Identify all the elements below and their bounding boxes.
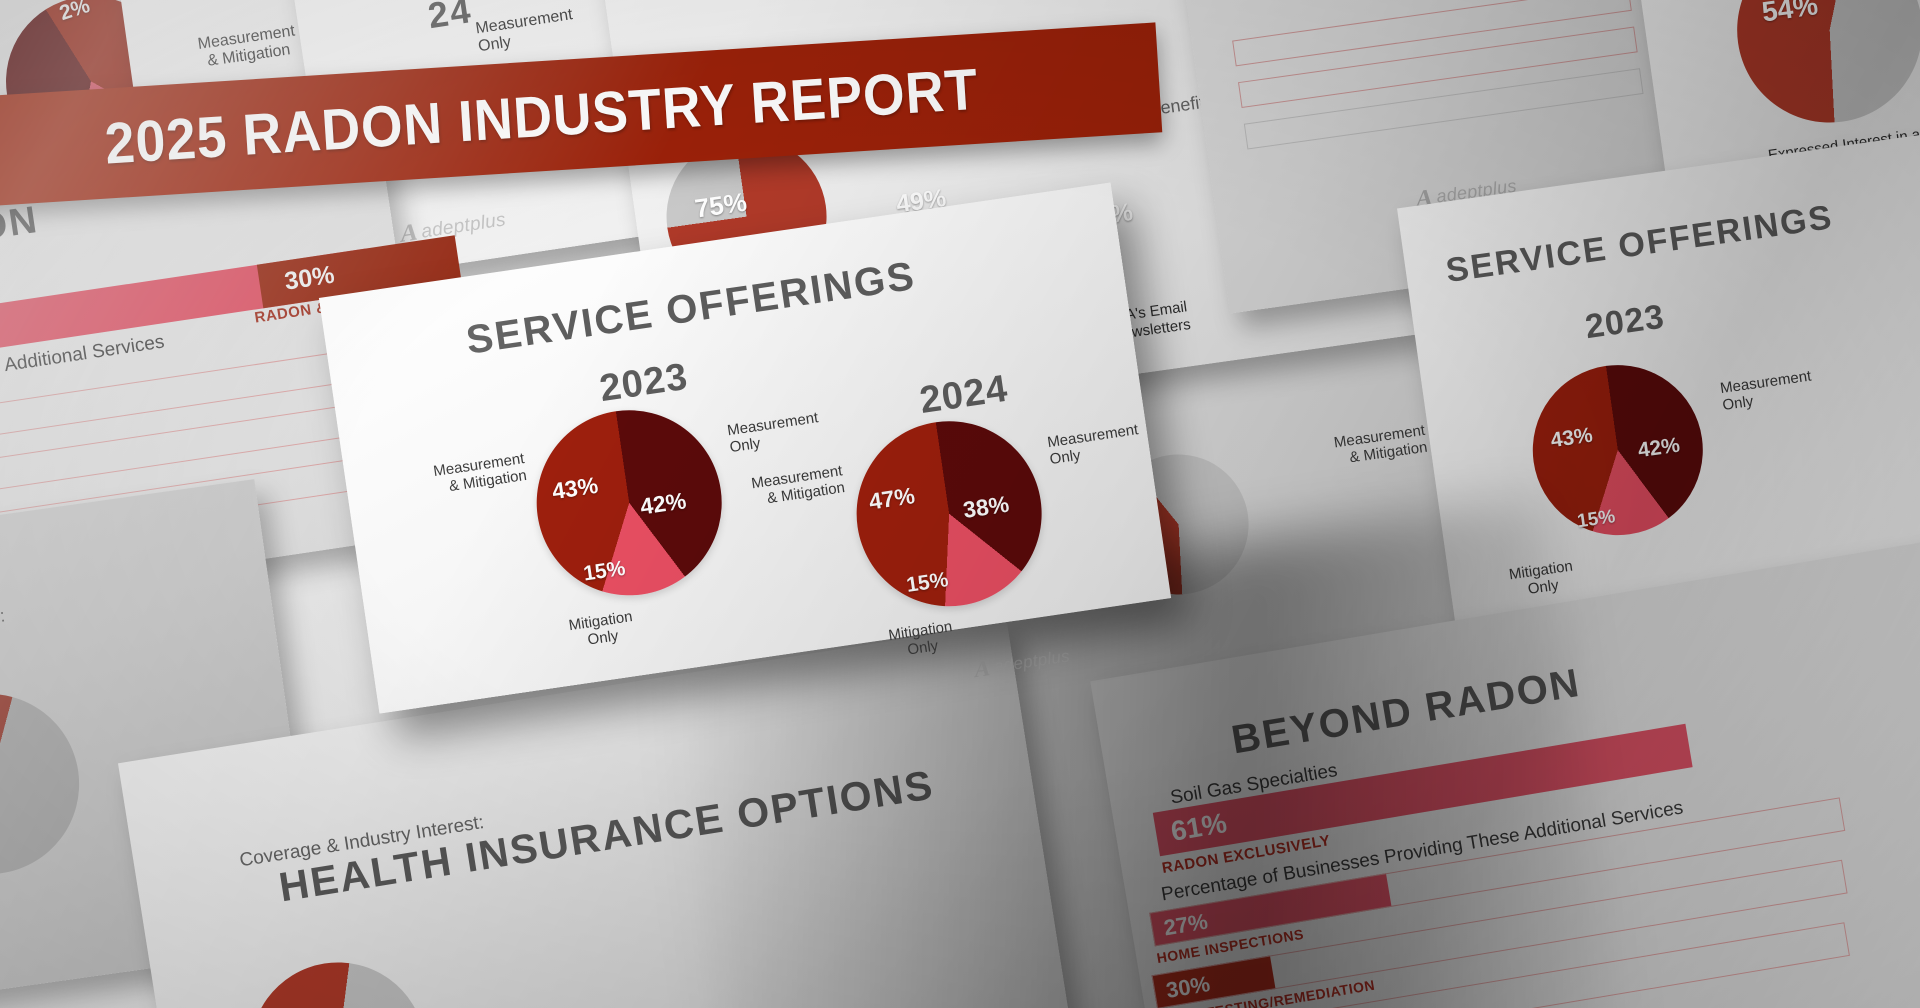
left-benefits-subtitle: r benefits: [0,605,6,637]
pie-health-insurance-54 [238,950,438,1008]
main-2024-label-left: Measurement& Mitigation [727,462,846,513]
label-measurement-mitigation-top: Measurement& Mitigation [197,22,299,72]
right-service-year: 2023 [1583,297,1667,347]
logo-a-icon: A [974,655,991,684]
main-2024-label-right: MeasurementOnly [1046,421,1142,468]
pie-left-benefits [0,682,91,885]
right-pie-label-right: MeasurementOnly [1719,368,1815,415]
right-pie-label-left: Measurement& Mitigation [1333,422,1429,469]
right-service-title: SERVICE OFFERINGS [1444,198,1836,291]
main-card-title: SERVICE OFFERINGS [463,254,918,364]
main-2023-label-right: MeasurementOnly [726,409,822,456]
main-year-2024: 2024 [917,368,1011,423]
main-2023-label-bottom: MitigationOnly [568,608,637,651]
pie-health-interest-54 [1725,0,1920,135]
left-radon-title: DON [0,199,41,255]
label-measurement-only-top-mid: MeasurementOnly [474,6,576,57]
card-top-mid-year: 24 [425,0,475,37]
report-collage: 2% 15% Measurement& Mitigation 24 Measur… [0,0,1920,1008]
main-2023-label-left: Measurement& Mitigation [409,450,528,501]
pie-right-service-2023 [1522,354,1714,546]
main-year-2023: 2023 [597,356,691,411]
